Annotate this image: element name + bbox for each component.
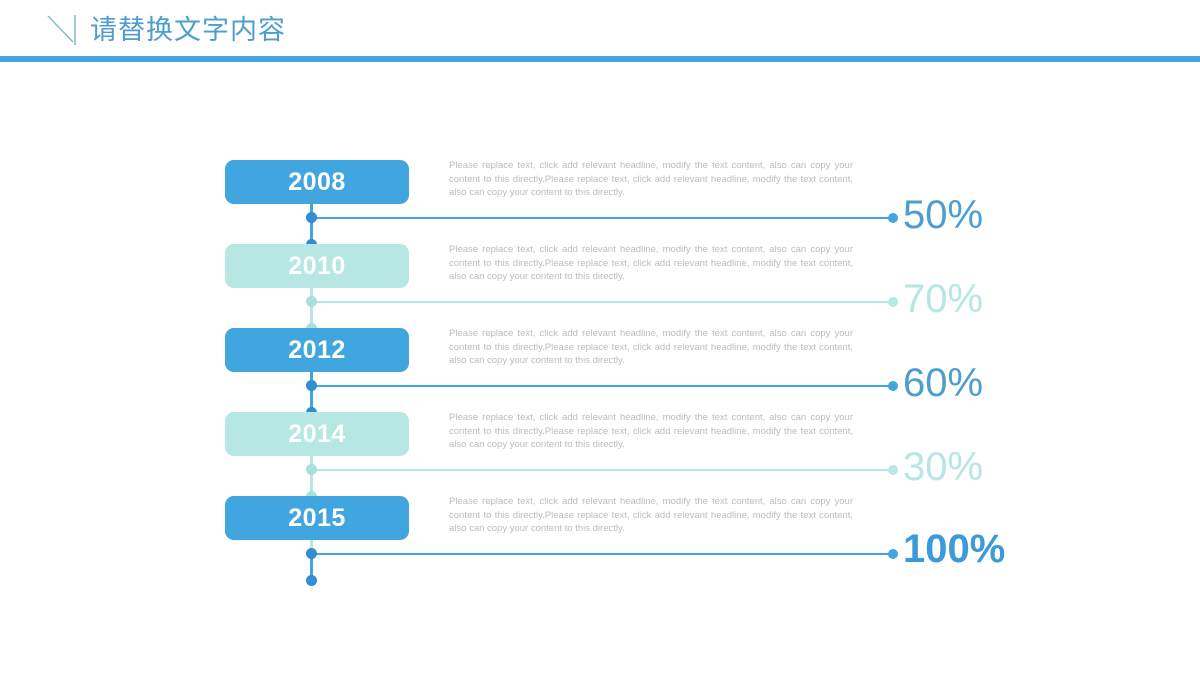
year-label: 2015 bbox=[288, 504, 346, 533]
timeline-node-dot[interactable] bbox=[306, 380, 317, 391]
year-pill-2010[interactable]: 2010 bbox=[225, 244, 409, 288]
timeline-row[interactable]: 2008 Please replace text, click add rele… bbox=[0, 160, 1200, 244]
row-description: Please replace text, click add relevant … bbox=[449, 411, 853, 452]
year-pill-2014[interactable]: 2014 bbox=[225, 412, 409, 456]
timeline-node-dot[interactable] bbox=[306, 296, 317, 307]
value-connector bbox=[311, 301, 893, 303]
timeline-node-dot[interactable] bbox=[306, 575, 317, 586]
year-pill-2015[interactable]: 2015 bbox=[225, 496, 409, 540]
year-label: 2014 bbox=[288, 420, 346, 449]
value-label-30: 30% bbox=[903, 447, 983, 487]
slide-header: 请替换文字内容 bbox=[0, 0, 1200, 62]
timeline-node-dot[interactable] bbox=[306, 464, 317, 475]
connector-end-dot bbox=[888, 549, 898, 559]
value-label-100: 100% bbox=[903, 529, 1005, 569]
value-label-50: 50% bbox=[903, 195, 983, 235]
row-description: Please replace text, click add relevant … bbox=[449, 495, 853, 536]
connector-end-dot bbox=[888, 465, 898, 475]
connector-end-dot bbox=[888, 297, 898, 307]
row-description: Please replace text, click add relevant … bbox=[449, 243, 853, 284]
value-connector bbox=[311, 553, 893, 555]
year-label: 2010 bbox=[288, 252, 346, 281]
value-label-60: 60% bbox=[903, 363, 983, 403]
year-label: 2012 bbox=[288, 336, 346, 365]
value-connector bbox=[311, 385, 893, 387]
timeline-row[interactable]: 2014 Please replace text, click add rele… bbox=[0, 412, 1200, 496]
year-label: 2008 bbox=[288, 168, 346, 197]
timeline-row[interactable]: 2012 Please replace text, click add rele… bbox=[0, 328, 1200, 412]
connector-end-dot bbox=[888, 213, 898, 223]
value-connector bbox=[311, 217, 893, 219]
timeline-node-dot[interactable] bbox=[306, 548, 317, 559]
timeline-node-dot[interactable] bbox=[306, 212, 317, 223]
page-title: 请替换文字内容 bbox=[90, 14, 286, 48]
row-description: Please replace text, click add relevant … bbox=[449, 159, 853, 200]
connector-end-dot bbox=[888, 381, 898, 391]
row-description: Please replace text, click add relevant … bbox=[449, 327, 853, 368]
diagonal-arrow-icon bbox=[46, 14, 82, 48]
timeline-row[interactable]: 2015 Please replace text, click add rele… bbox=[0, 496, 1200, 580]
timeline-chart: 2008 Please replace text, click add rele… bbox=[0, 62, 1200, 674]
year-pill-2012[interactable]: 2012 bbox=[225, 328, 409, 372]
value-connector bbox=[311, 469, 893, 471]
timeline-row[interactable]: 2010 Please replace text, click add rele… bbox=[0, 244, 1200, 328]
value-label-70: 70% bbox=[903, 279, 983, 319]
year-pill-2008[interactable]: 2008 bbox=[225, 160, 409, 204]
